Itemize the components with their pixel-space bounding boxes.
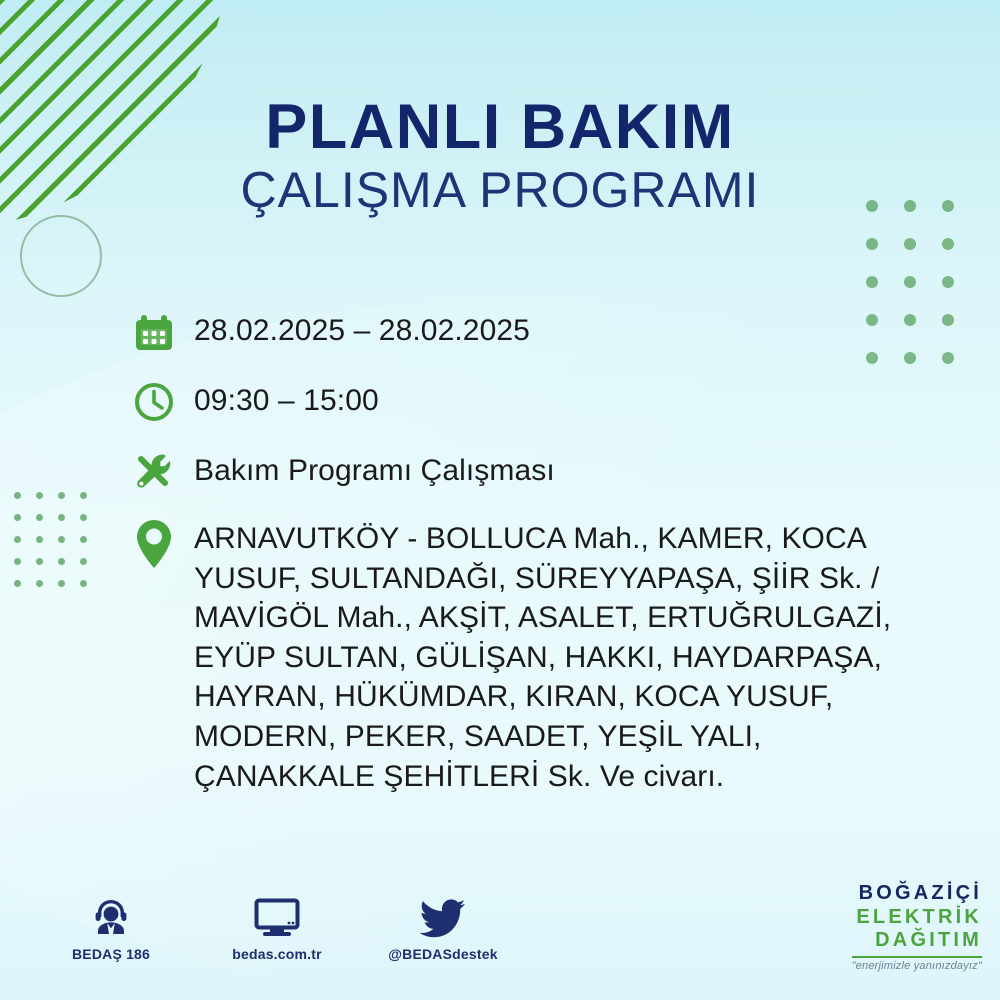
address-line: ÇANAKKALE ŞEHİTLERİ Sk. Ve civarı. <box>194 757 891 797</box>
brand-line-elektrik: ELEKTRİK <box>852 906 982 930</box>
contact-website-label: bedas.com.tr <box>222 946 332 962</box>
contact-twitter[interactable]: @BEDASdestek <box>388 894 498 962</box>
brand-tagline: "enerjimizle yanınızdayız" <box>852 960 982 972</box>
decoration-dot <box>58 580 65 587</box>
location-pin-icon <box>132 518 194 570</box>
decoration-dot <box>866 276 878 288</box>
decoration-dot <box>58 514 65 521</box>
info-row-work-type: Bakım Programı Çalışması <box>132 448 932 496</box>
dot-grid-left-decoration <box>14 492 102 602</box>
decoration-dot <box>80 558 87 565</box>
decoration-dot <box>942 352 954 364</box>
contact-twitter-label: @BEDASdestek <box>388 946 498 962</box>
decoration-dot <box>942 238 954 250</box>
decoration-dot <box>36 492 43 499</box>
decoration-dot <box>14 514 21 521</box>
decoration-dot <box>80 492 87 499</box>
monitor-icon <box>222 894 332 938</box>
tools-icon <box>132 448 194 496</box>
decoration-dot <box>58 536 65 543</box>
info-row-address: ARNAVUTKÖY - BOLLUCA Mah., KAMER, KOCA Y… <box>132 518 932 796</box>
call-center-agent-icon <box>56 894 166 938</box>
decoration-dot <box>14 580 21 587</box>
decoration-dot <box>14 492 21 499</box>
address-line: MAVİGÖL Mah., AKŞİT, ASALET, ERTUĞRULGAZ… <box>194 598 891 638</box>
decoration-dot <box>904 238 916 250</box>
decoration-dot <box>36 536 43 543</box>
address-line: YUSUF, SULTANDAĞI, SÜREYYAPAŞA, ŞİİR Sk.… <box>194 559 891 599</box>
brand-divider <box>852 956 982 958</box>
address-line: MODERN, PEKER, SAADET, YEŞİL YALI, <box>194 717 891 757</box>
planned-maintenance-poster: PLANLI BAKIM ÇALIŞMA PROGRAMI <box>0 0 1000 1000</box>
info-row-date: 28.02.2025 – 28.02.2025 <box>132 308 932 356</box>
twitter-bird-icon <box>388 894 498 938</box>
calendar-icon <box>132 308 194 356</box>
page-title: PLANLI BAKIM <box>0 95 1000 159</box>
work-type-value: Bakım Programı Çalışması <box>194 448 555 491</box>
time-range-value: 09:30 – 15:00 <box>194 378 379 421</box>
poster-header: PLANLI BAKIM ÇALIŞMA PROGRAMI <box>0 95 1000 217</box>
contact-website[interactable]: bedas.com.tr <box>222 894 332 962</box>
decoration-dot <box>904 276 916 288</box>
maintenance-info-list: 28.02.2025 – 28.02.2025 09:30 – 15:00 <box>132 308 932 796</box>
decoration-dot <box>58 492 65 499</box>
decoration-dot <box>14 536 21 543</box>
bedas-logo: BOĞAZİÇİ ELEKTRİK DAĞITIM "enerjimizle y… <box>852 882 982 972</box>
decoration-dot <box>36 580 43 587</box>
decoration-dot <box>942 314 954 326</box>
brand-line-bogazici: BOĞAZİÇİ <box>852 882 982 906</box>
page-subtitle: ÇALIŞMA PROGRAMI <box>0 163 1000 217</box>
date-range-value: 28.02.2025 – 28.02.2025 <box>194 308 530 351</box>
address-value: ARNAVUTKÖY - BOLLUCA Mah., KAMER, KOCA Y… <box>194 518 891 796</box>
contact-phone[interactable]: BEDAŞ 186 <box>56 894 166 962</box>
brand-line-dagitim: DAĞITIM <box>852 929 982 953</box>
decoration-dot <box>14 558 21 565</box>
address-line: EYÜP SULTAN, GÜLİŞAN, HAKKI, HAYDARPAŞA, <box>194 638 891 678</box>
contact-channels: BEDAŞ 186 bedas.com.tr <box>56 894 498 962</box>
poster-footer: BEDAŞ 186 bedas.com.tr <box>0 880 1000 1000</box>
address-line: ARNAVUTKÖY - BOLLUCA Mah., KAMER, KOCA <box>194 519 891 559</box>
decoration-dot <box>866 238 878 250</box>
clock-icon <box>132 378 194 426</box>
decoration-dot <box>36 514 43 521</box>
decoration-dot <box>942 276 954 288</box>
decoration-dot <box>80 514 87 521</box>
contact-phone-label: BEDAŞ 186 <box>56 946 166 962</box>
decoration-dot <box>80 536 87 543</box>
decoration-dot <box>36 558 43 565</box>
address-line: HAYRAN, HÜKÜMDAR, KIRAN, KOCA YUSUF, <box>194 677 891 717</box>
info-row-time: 09:30 – 15:00 <box>132 378 932 426</box>
decoration-dot <box>80 580 87 587</box>
decoration-dot <box>58 558 65 565</box>
outline-circle-decoration <box>20 215 102 297</box>
